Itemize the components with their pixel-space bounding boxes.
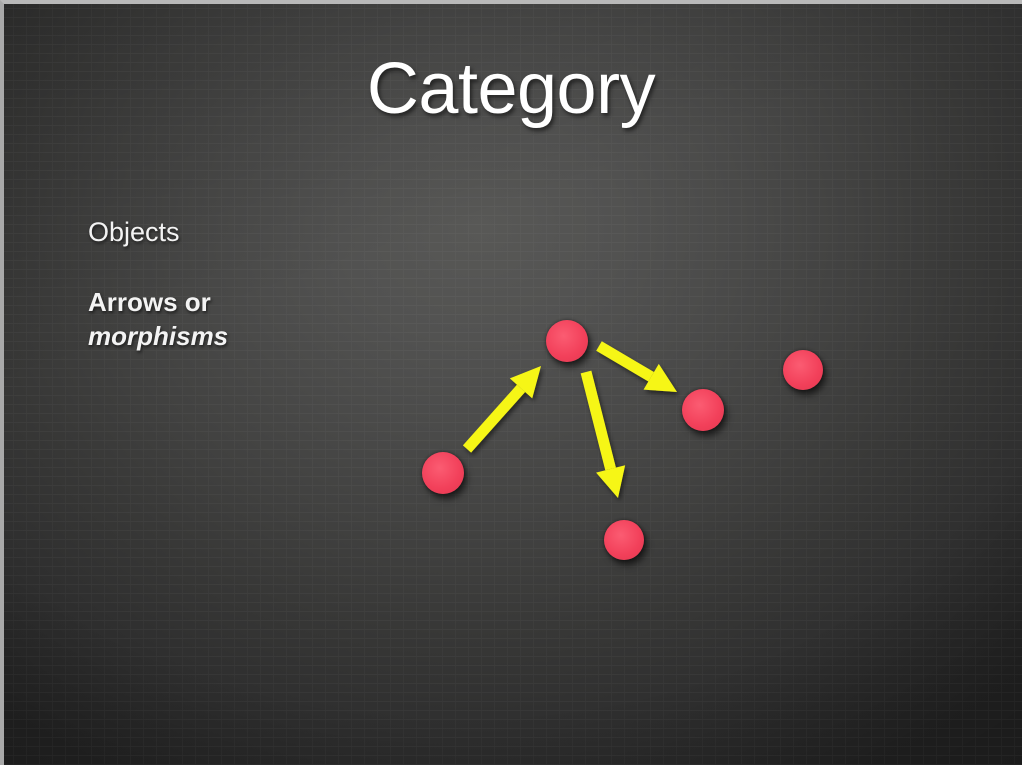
body-line-arrows: Arrows or: [88, 286, 388, 319]
arrow-down-head: [596, 465, 625, 498]
body-text-block: Objects Arrows or morphisms: [88, 216, 388, 353]
morphism-bottomleft-to-top: [463, 366, 541, 453]
arrow-up-right-shaft: [463, 385, 525, 453]
slide-canvas: Category Objects Arrows or morphisms: [0, 0, 1022, 765]
object-far-right: [783, 350, 823, 390]
object-bottom: [604, 520, 644, 560]
morphism-top-to-bottom: [581, 371, 625, 498]
object-bottom-left: [422, 452, 464, 494]
arrow-down-right-shaft: [596, 341, 654, 381]
morphism-top-to-middleright: [596, 341, 677, 392]
arrow-down-shaft: [581, 371, 616, 471]
morphism-arrows: [463, 341, 677, 498]
body-line-morphisms: morphisms: [88, 320, 388, 353]
object-top: [546, 320, 588, 362]
page-title: Category: [0, 52, 1022, 128]
body-line-objects: Objects: [88, 216, 388, 248]
object-middle-right: [682, 389, 724, 431]
